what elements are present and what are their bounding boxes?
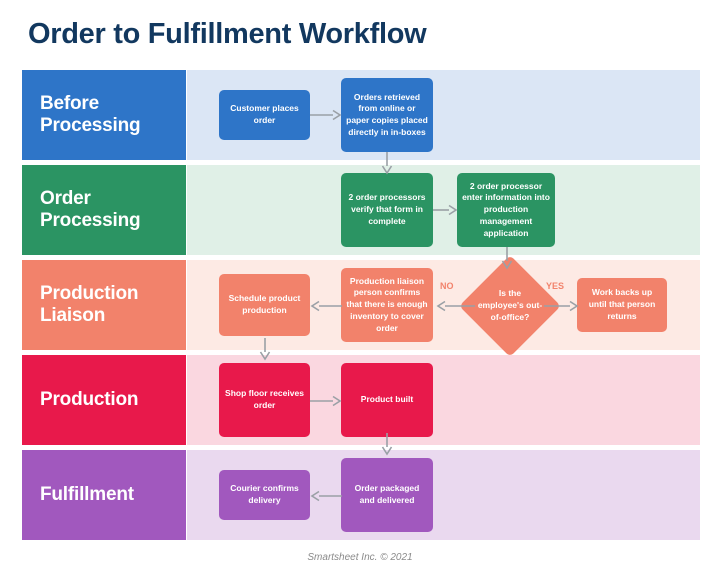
edge-label-no: NO (440, 281, 454, 291)
node-courier-confirms-delivery[interactable]: Courier confirms delivery (219, 470, 310, 520)
lane-header-production: Production (22, 355, 186, 445)
lane-production: Production Shop floor receives order Pro… (22, 355, 700, 445)
node-shop-floor-receives-order[interactable]: Shop floor receives order (219, 363, 310, 437)
connector-shopfloor-to-product (310, 394, 342, 408)
node-customer-places-order[interactable]: Customer places order (219, 90, 310, 140)
edge-label-yes: YES (546, 281, 564, 291)
footer-credit: Smartsheet Inc. © 2021 (0, 552, 720, 563)
lane-header-production-liaison: Production Liaison (22, 260, 186, 350)
node-is-employee-out-of-office[interactable]: Is the employee's out-of-office? (474, 270, 546, 342)
lane-header-before-processing: Before Processing (22, 70, 186, 160)
lane-label-production-liaison: Production Liaison (40, 283, 186, 327)
connector-verify-to-enter (433, 203, 459, 217)
diamond-label: Is the employee's out-of-office? (477, 288, 543, 323)
lane-label-fulfillment: Fulfillment (40, 484, 134, 506)
lane-header-fulfillment: Fulfillment (22, 450, 186, 540)
node-product-built[interactable]: Product built (341, 363, 433, 437)
connector-enter-to-decision (500, 247, 514, 271)
swimlane-diagram: Before Processing Customer places order … (22, 70, 700, 544)
node-verify-form-complete[interactable]: 2 order processors verify that form in c… (341, 173, 433, 247)
lane-order-processing: Order Processing 2 order processors veri… (22, 165, 700, 255)
lane-label-order-processing: Order Processing (40, 188, 186, 232)
lane-before-processing: Before Processing Customer places order … (22, 70, 700, 160)
lane-production-liaison: Production Liaison Schedule product prod… (22, 260, 700, 350)
lane-label-before-processing: Before Processing (40, 93, 186, 137)
lane-fulfillment: Fulfillment Courier confirms delivery Or… (22, 450, 700, 540)
connector-packaged-to-courier (310, 489, 342, 503)
node-orders-retrieved[interactable]: Orders retrieved from online or paper co… (341, 78, 433, 152)
connector-orders-to-verify (380, 152, 394, 176)
node-confirm-inventory[interactable]: Production liaison person confirms that … (341, 268, 433, 342)
connector-inventory-to-schedule (310, 299, 342, 313)
node-enter-information[interactable]: 2 order processor enter information into… (457, 173, 555, 247)
lane-label-production: Production (40, 389, 138, 411)
lane-header-order-processing: Order Processing (22, 165, 186, 255)
connector-schedule-to-shopfloor (258, 338, 272, 362)
page-title: Order to Fulfillment Workflow (28, 18, 426, 51)
connector-customer-to-orders (310, 108, 342, 122)
node-work-backs-up[interactable]: Work backs up until that person returns (577, 278, 667, 332)
connector-no-branch (433, 299, 475, 313)
connector-yes-branch (544, 299, 580, 313)
node-order-packaged-and-delivered[interactable]: Order packaged and delivered (341, 458, 433, 532)
connector-productbuilt-to-packaged (380, 433, 394, 457)
node-schedule-product-production[interactable]: Schedule product production (219, 274, 310, 336)
